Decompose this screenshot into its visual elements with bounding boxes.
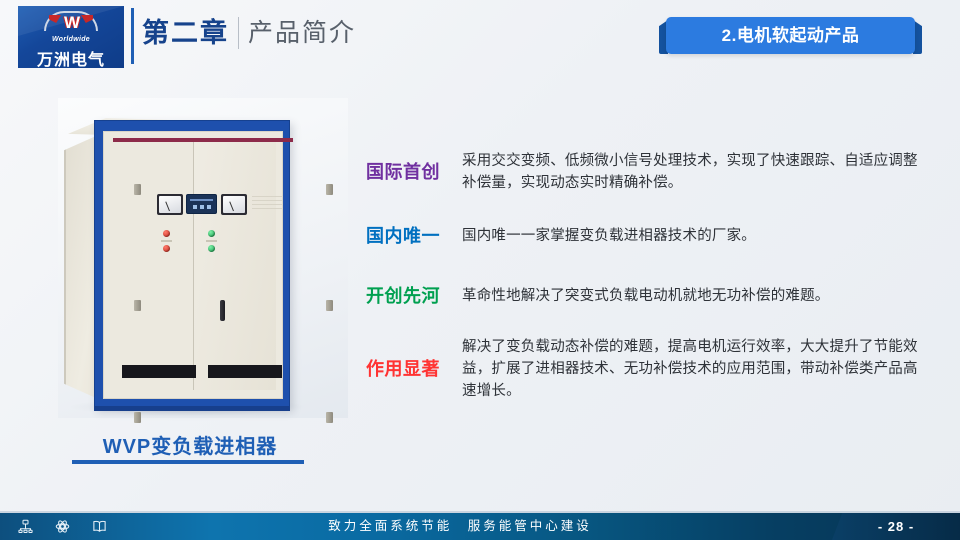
feature-label: 国际首创 bbox=[366, 160, 462, 184]
lamp-label-plate-left bbox=[161, 240, 172, 242]
feature-description: 革命性地解决了突变式负载电动机就地无功补偿的难题。 bbox=[462, 285, 926, 307]
cabinet-door-handle bbox=[220, 300, 225, 321]
logo-emblem-icon: W bbox=[44, 11, 98, 35]
indicator-lamp-red-2 bbox=[163, 245, 170, 252]
display-readout-line bbox=[190, 199, 213, 201]
chapter-title: 第二章 bbox=[142, 16, 229, 50]
chapter-subtitle: 产品简介 bbox=[248, 17, 356, 50]
cabinet-hinge bbox=[134, 412, 141, 423]
cabinet-base bbox=[94, 406, 290, 411]
feature-label: 国内唯一 bbox=[366, 224, 462, 248]
analog-meter-right bbox=[221, 194, 247, 215]
logo-company-name: 万洲电气 bbox=[18, 46, 124, 68]
cabinet-doors bbox=[103, 131, 283, 399]
feature-description: 国内唯一一家掌握变负载进相器技术的厂家。 bbox=[462, 225, 926, 247]
feature-description: 解决了变负载动态补偿的难题，提高电机运行效率，大大提升了节能效益，扩展了进相器技… bbox=[462, 336, 926, 402]
meter-face bbox=[159, 196, 181, 213]
company-logo: W Worldwide 万洲电气 bbox=[18, 6, 124, 68]
feature-label: 作用显著 bbox=[366, 357, 462, 381]
logo-letter: W bbox=[44, 13, 98, 33]
meter-needle bbox=[229, 202, 234, 212]
cabinet-vent-right bbox=[208, 365, 282, 378]
cabinet-hinge bbox=[134, 300, 141, 311]
product-caption: WVP变负载进相器 bbox=[60, 430, 320, 459]
cabinet-brand-plate bbox=[252, 196, 282, 209]
analog-meter-left bbox=[157, 194, 183, 215]
product-photo bbox=[58, 98, 348, 418]
feature-item: 国内唯一 国内唯一一家掌握变负载进相器技术的厂家。 bbox=[366, 224, 926, 248]
cabinet-hinge bbox=[326, 300, 333, 311]
indicator-lamp-green-2 bbox=[208, 245, 215, 252]
feature-description: 采用交交变频、低频微小信号处理技术，实现了快速跟踪、自适应调整补偿量，实现动态实… bbox=[462, 150, 926, 194]
feature-item: 国际首创 采用交交变频、低频微小信号处理技术，实现了快速跟踪、自适应调整补偿量，… bbox=[366, 150, 926, 194]
slide-canvas: W Worldwide 万洲电气 第二章 产品简介 2.电机软起动产品 bbox=[0, 0, 960, 540]
meter-face bbox=[223, 196, 245, 213]
slide-header: W Worldwide 万洲电气 第二章 产品简介 2.电机软起动产品 bbox=[0, 0, 960, 72]
feature-item: 作用显著 解决了变负载动态补偿的难题，提高电机运行效率，大大提升了节能效益，扩展… bbox=[366, 336, 926, 402]
slide-footer: 致力全面系统节能 服务能管中心建设 - 28 - bbox=[0, 513, 960, 540]
digital-display bbox=[186, 194, 217, 214]
header-accent-bar bbox=[131, 8, 134, 64]
page-number: - 28 - bbox=[832, 513, 960, 540]
cabinet-right-door bbox=[193, 142, 276, 390]
footer-slogan: 致力全面系统节能 服务能管中心建设 bbox=[0, 513, 960, 540]
title-separator bbox=[238, 17, 239, 49]
feature-label: 开创先河 bbox=[366, 284, 462, 308]
page-number-block: - 28 - bbox=[832, 513, 960, 540]
logo-tagline: Worldwide bbox=[18, 36, 124, 43]
cabinet-door-seam bbox=[193, 142, 194, 390]
indicator-lamp-red-1 bbox=[163, 230, 170, 237]
cabinet-hinge bbox=[134, 184, 141, 195]
product-caption-underline bbox=[72, 460, 304, 464]
section-ribbon: 2.电机软起动产品 bbox=[666, 17, 915, 54]
cabinet-hinge bbox=[326, 412, 333, 423]
meter-needle bbox=[165, 202, 170, 212]
cabinet-body bbox=[94, 120, 290, 408]
feature-list: 国际首创 采用交交变频、低频微小信号处理技术，实现了快速跟踪、自适应调整补偿量，… bbox=[366, 150, 926, 424]
indicator-lamp-green-1 bbox=[208, 230, 215, 237]
cabinet-vent-left bbox=[122, 365, 196, 378]
cabinet-hinge bbox=[326, 184, 333, 195]
lamp-label-plate-right bbox=[206, 240, 217, 242]
feature-item: 开创先河 革命性地解决了突变式负载电动机就地无功补偿的难题。 bbox=[366, 284, 926, 308]
section-ribbon-label: 2.电机软起动产品 bbox=[666, 17, 915, 54]
display-indicator-dots bbox=[191, 205, 212, 209]
